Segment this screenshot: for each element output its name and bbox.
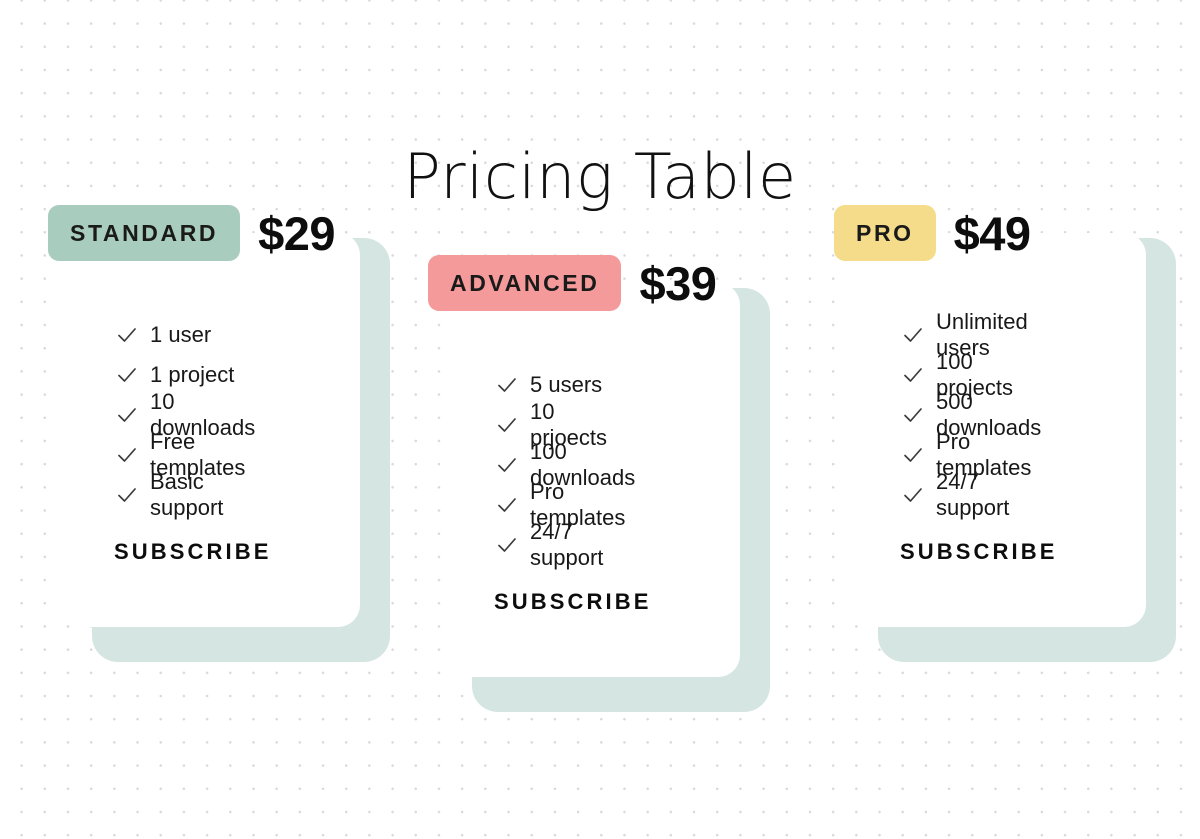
feature-label: Basic support [150,469,255,521]
page-title: Pricing Table [0,146,1200,208]
plan-badge-advanced: ADVANCED [428,255,621,311]
feature-list: 1 user 1 project 10 downloads Free templ… [114,315,255,515]
plan-badge-pro: PRO [834,205,936,261]
card-header: ADVANCED $39 [428,255,716,311]
plan-price-standard: $29 [258,210,335,257]
check-icon [900,322,926,348]
subscribe-button-pro[interactable]: SUBSCRIBE [900,539,1057,565]
feature-label: 24/7 support [530,519,635,571]
list-item: Basic support [114,475,255,515]
feature-label: 24/7 support [936,469,1041,521]
check-icon [900,362,926,388]
check-icon [900,402,926,428]
check-icon [900,482,926,508]
list-item: 24/7 support [494,525,635,565]
plan-price-pro: $49 [954,210,1031,257]
plan-price-advanced: $39 [639,260,716,307]
feature-label: 5 users [530,372,602,398]
check-icon [114,362,140,388]
check-icon [114,322,140,348]
check-icon [494,412,520,438]
check-icon [900,442,926,468]
check-icon [494,532,520,558]
check-icon [494,372,520,398]
feature-label: 1 user [150,322,211,348]
feature-list: 5 users 10 prjoects 100 downloads Pro te… [494,365,635,565]
feature-label: 1 project [150,362,234,388]
list-item: 24/7 support [900,475,1041,515]
list-item: 1 user [114,315,255,355]
check-icon [494,492,520,518]
subscribe-button-standard[interactable]: SUBSCRIBE [114,539,271,565]
check-icon [114,442,140,468]
card-header: STANDARD $29 [48,205,335,261]
plan-badge-standard: STANDARD [48,205,240,261]
feature-list: Unlimited users 100 projects 500 downloa… [900,315,1041,515]
card-header: PRO $49 [834,205,1031,261]
check-icon [114,482,140,508]
check-icon [114,402,140,428]
subscribe-button-advanced[interactable]: SUBSCRIBE [494,589,651,615]
check-icon [494,452,520,478]
